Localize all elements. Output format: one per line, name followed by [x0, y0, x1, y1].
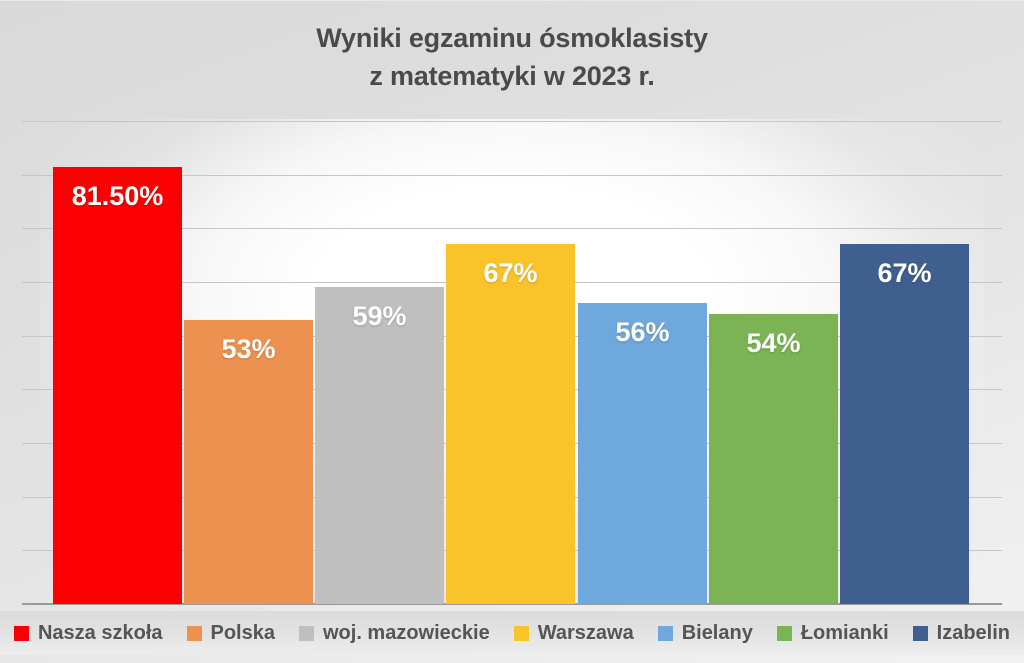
legend-swatch-icon	[658, 626, 673, 641]
bar-izabelin[interactable]: 67%	[840, 244, 969, 604]
bar-value-label: 59%	[315, 301, 444, 332]
bar-value-label: 56%	[578, 317, 707, 348]
legend-label: woj. mazowieckie	[323, 622, 490, 645]
legend-swatch-icon	[187, 626, 202, 641]
legend-item-nasza-szko-a[interactable]: Nasza szkoła	[14, 622, 163, 645]
legend-label: Polska	[211, 622, 275, 645]
legend-item-woj-mazowieckie[interactable]: woj. mazowieckie	[299, 622, 490, 645]
chart-legend: Nasza szkołaPolskawoj. mazowieckieWarsza…	[0, 611, 1024, 655]
legend-label: Nasza szkoła	[38, 622, 163, 645]
bar-warszawa[interactable]: 67%	[446, 244, 575, 604]
legend-label: Łomianki	[801, 622, 889, 645]
legend-label: Bielany	[682, 622, 753, 645]
legend-item-omianki[interactable]: Łomianki	[777, 622, 889, 645]
legend-swatch-icon	[299, 626, 314, 641]
legend-swatch-icon	[14, 626, 29, 641]
plot-area: 81.50%53%59%67%56%54%67%	[0, 1, 1024, 663]
legend-item-izabelin[interactable]: Izabelin	[913, 622, 1010, 645]
bar-value-label: 67%	[446, 258, 575, 289]
bar-nasza-szko-a[interactable]: 81.50%	[53, 167, 182, 604]
bar-woj-mazowieckie[interactable]: 59%	[315, 287, 444, 604]
bar-polska[interactable]: 53%	[184, 320, 313, 604]
legend-label: Izabelin	[937, 622, 1010, 645]
legend-label: Warszawa	[538, 622, 634, 645]
legend-swatch-icon	[514, 626, 529, 641]
legend-item-bielany[interactable]: Bielany	[658, 622, 753, 645]
bar-value-label: 53%	[184, 334, 313, 365]
bar-bielany[interactable]: 56%	[578, 303, 707, 604]
legend-item-polska[interactable]: Polska	[187, 622, 275, 645]
bar-value-label: 54%	[709, 328, 838, 359]
legend-item-warszawa[interactable]: Warszawa	[514, 622, 634, 645]
chart-container: Wyniki egzaminu ósmoklasisty z matematyk…	[0, 0, 1024, 663]
bar-omianki[interactable]: 54%	[709, 314, 838, 604]
legend-swatch-icon	[913, 626, 928, 641]
gridline	[22, 121, 1002, 122]
bar-value-label: 67%	[840, 258, 969, 289]
legend-swatch-icon	[777, 626, 792, 641]
bar-value-label: 81.50%	[53, 181, 182, 212]
